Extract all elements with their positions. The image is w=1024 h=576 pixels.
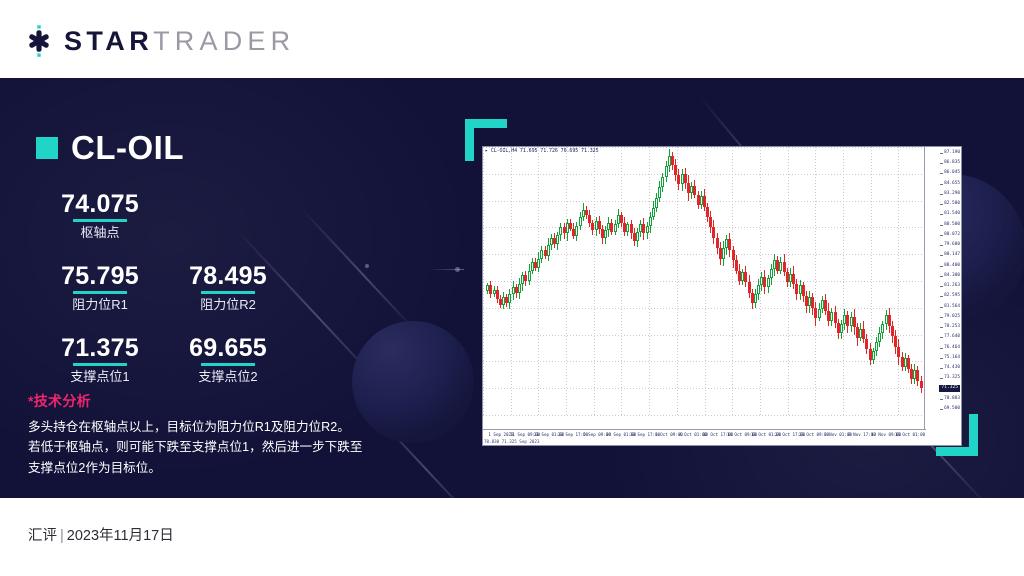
level-s2-label: 支撑点位2 bbox=[164, 369, 292, 385]
price-axis-tick: 75.164 bbox=[944, 356, 960, 360]
level-s1-label: 支撑点位1 bbox=[36, 369, 164, 385]
title-accent-square bbox=[36, 137, 58, 159]
level-s2: 69.655 支撑点位2 bbox=[164, 334, 292, 384]
brand-word-star: STAR bbox=[64, 26, 153, 56]
price-axis-tick: 86.045 bbox=[944, 171, 960, 175]
level-r1-label: 阻力位R1 bbox=[36, 297, 164, 313]
technical-analysis: *技术分析 多头持仓在枢轴点以上，目标位为阻力位R1及阻力位R2。 若低于枢轴点… bbox=[28, 391, 428, 478]
price-axis-tick: 73.325 bbox=[944, 376, 960, 380]
price-axis-tick: 84.655 bbox=[944, 182, 960, 186]
price-axis-tick: 79.025 bbox=[944, 315, 960, 319]
price-axis-tick: 82.595 bbox=[944, 294, 960, 298]
chart-plot-area[interactable] bbox=[483, 147, 926, 431]
price-axis-tick: 81.540 bbox=[944, 212, 960, 216]
price-axis-tick: 86.835 bbox=[944, 161, 960, 165]
analysis-heading: *技术分析 bbox=[28, 391, 428, 411]
level-r1-value: 75.795 bbox=[36, 262, 164, 290]
level-r1-underline bbox=[73, 291, 127, 294]
page-title: CL-OIL bbox=[71, 131, 184, 164]
footer-separator: | bbox=[57, 528, 67, 544]
brand-logo: STARTRADER bbox=[22, 24, 295, 58]
brand-word-trader: TRADER bbox=[153, 26, 295, 56]
page-header: STARTRADER bbox=[0, 0, 1024, 78]
price-axis-tick: 83.290 bbox=[944, 192, 960, 196]
price-axis-tick: 70.883 bbox=[944, 397, 960, 401]
pivot-levels: 74.075 枢轴点 75.795 阻力位R1 78.495 阻力位R2 bbox=[36, 190, 426, 384]
price-axis-tick: 80.072 bbox=[944, 233, 960, 237]
price-axis-tick: 80.500 bbox=[944, 223, 960, 227]
price-axis-tick: 77.640 bbox=[944, 335, 960, 339]
level-pivot-value: 74.075 bbox=[36, 190, 164, 218]
brand-wordmark: STARTRADER bbox=[64, 28, 295, 55]
instrument-title: CL-OIL bbox=[36, 131, 184, 164]
price-axis-tick: 87.190 bbox=[944, 151, 960, 155]
level-pivot-label: 枢轴点 bbox=[36, 225, 164, 241]
footer-date: 2023年11月17日 bbox=[67, 528, 174, 544]
level-pivot-underline bbox=[73, 219, 127, 222]
analysis-body: 多头持仓在枢轴点以上，目标位为阻力位R1及阻力位R2。 若低于枢轴点，则可能下跌… bbox=[28, 417, 428, 478]
price-axis-tick: 82.580 bbox=[944, 202, 960, 206]
slide-root: STARTRADER CL-OIL bbox=[0, 0, 1024, 576]
price-axis-tick: 69.500 bbox=[944, 407, 960, 411]
level-r1: 75.795 阻力位R1 bbox=[36, 262, 164, 312]
price-axis-tick: 88.400 bbox=[944, 264, 960, 268]
time-axis-tick: 16 Oct 01:00 bbox=[895, 433, 925, 437]
price-axis-tick: 74.430 bbox=[944, 366, 960, 370]
footer-label: 汇评 bbox=[28, 528, 57, 544]
level-r2-underline bbox=[201, 291, 255, 294]
price-axis-tick: 80.147 bbox=[944, 253, 960, 257]
asterisk-star-icon bbox=[22, 24, 56, 58]
level-s2-value: 69.655 bbox=[164, 334, 292, 362]
level-r2: 78.495 阻力位R2 bbox=[164, 262, 292, 312]
chart-status-bar: 70.830 71.325 Sep 2023 bbox=[484, 439, 539, 444]
price-axis-tick: 78.253 bbox=[944, 325, 960, 329]
price-axis-tick: 76.464 bbox=[944, 346, 960, 350]
level-s2-underline bbox=[201, 363, 255, 366]
price-axis-tick: 81.263 bbox=[944, 284, 960, 288]
analysis-line-1: 多头持仓在枢轴点以上，目标位为阻力位R1及阻力位R2。 bbox=[28, 417, 428, 437]
level-r2-label: 阻力位R2 bbox=[164, 297, 292, 313]
level-s1: 71.375 支撑点位1 bbox=[36, 334, 164, 384]
price-axis-tick: 81.564 bbox=[944, 305, 960, 309]
level-s1-underline bbox=[73, 363, 127, 366]
level-r2-value: 78.495 bbox=[164, 262, 292, 290]
price-axis-tick: 84.300 bbox=[944, 274, 960, 278]
analysis-line-2: 若低于枢轴点，则可能下跌至支撑点位1，然后进一步下跌至 bbox=[28, 437, 428, 457]
mt4-chart[interactable]: ▸ CL-OIL,H4 71.695 71.726 70.695 71.325 … bbox=[482, 146, 962, 446]
price-axis-tick: 79.680 bbox=[944, 243, 960, 247]
price-axis[interactable]: 87.19086.83586.04584.65583.29082.58081.5… bbox=[924, 147, 961, 431]
level-s1-value: 71.375 bbox=[36, 334, 164, 362]
footer-caption: 汇评|2023年11月17日 bbox=[28, 524, 174, 545]
chart-title-label: ▸ CL-OIL,H4 71.695 71.726 70.695 71.325 bbox=[485, 148, 599, 156]
page-footer: 汇评|2023年11月17日 bbox=[0, 498, 1024, 576]
analysis-line-3: 支撑点位2作为目标位。 bbox=[28, 458, 428, 478]
time-axis[interactable]: 1 Sep 202311 Sep 09:0021 Sep 01:0028 Sep… bbox=[483, 429, 926, 445]
level-pivot: 74.075 枢轴点 bbox=[36, 190, 164, 240]
current-price-tag: 71.325 bbox=[939, 385, 960, 392]
